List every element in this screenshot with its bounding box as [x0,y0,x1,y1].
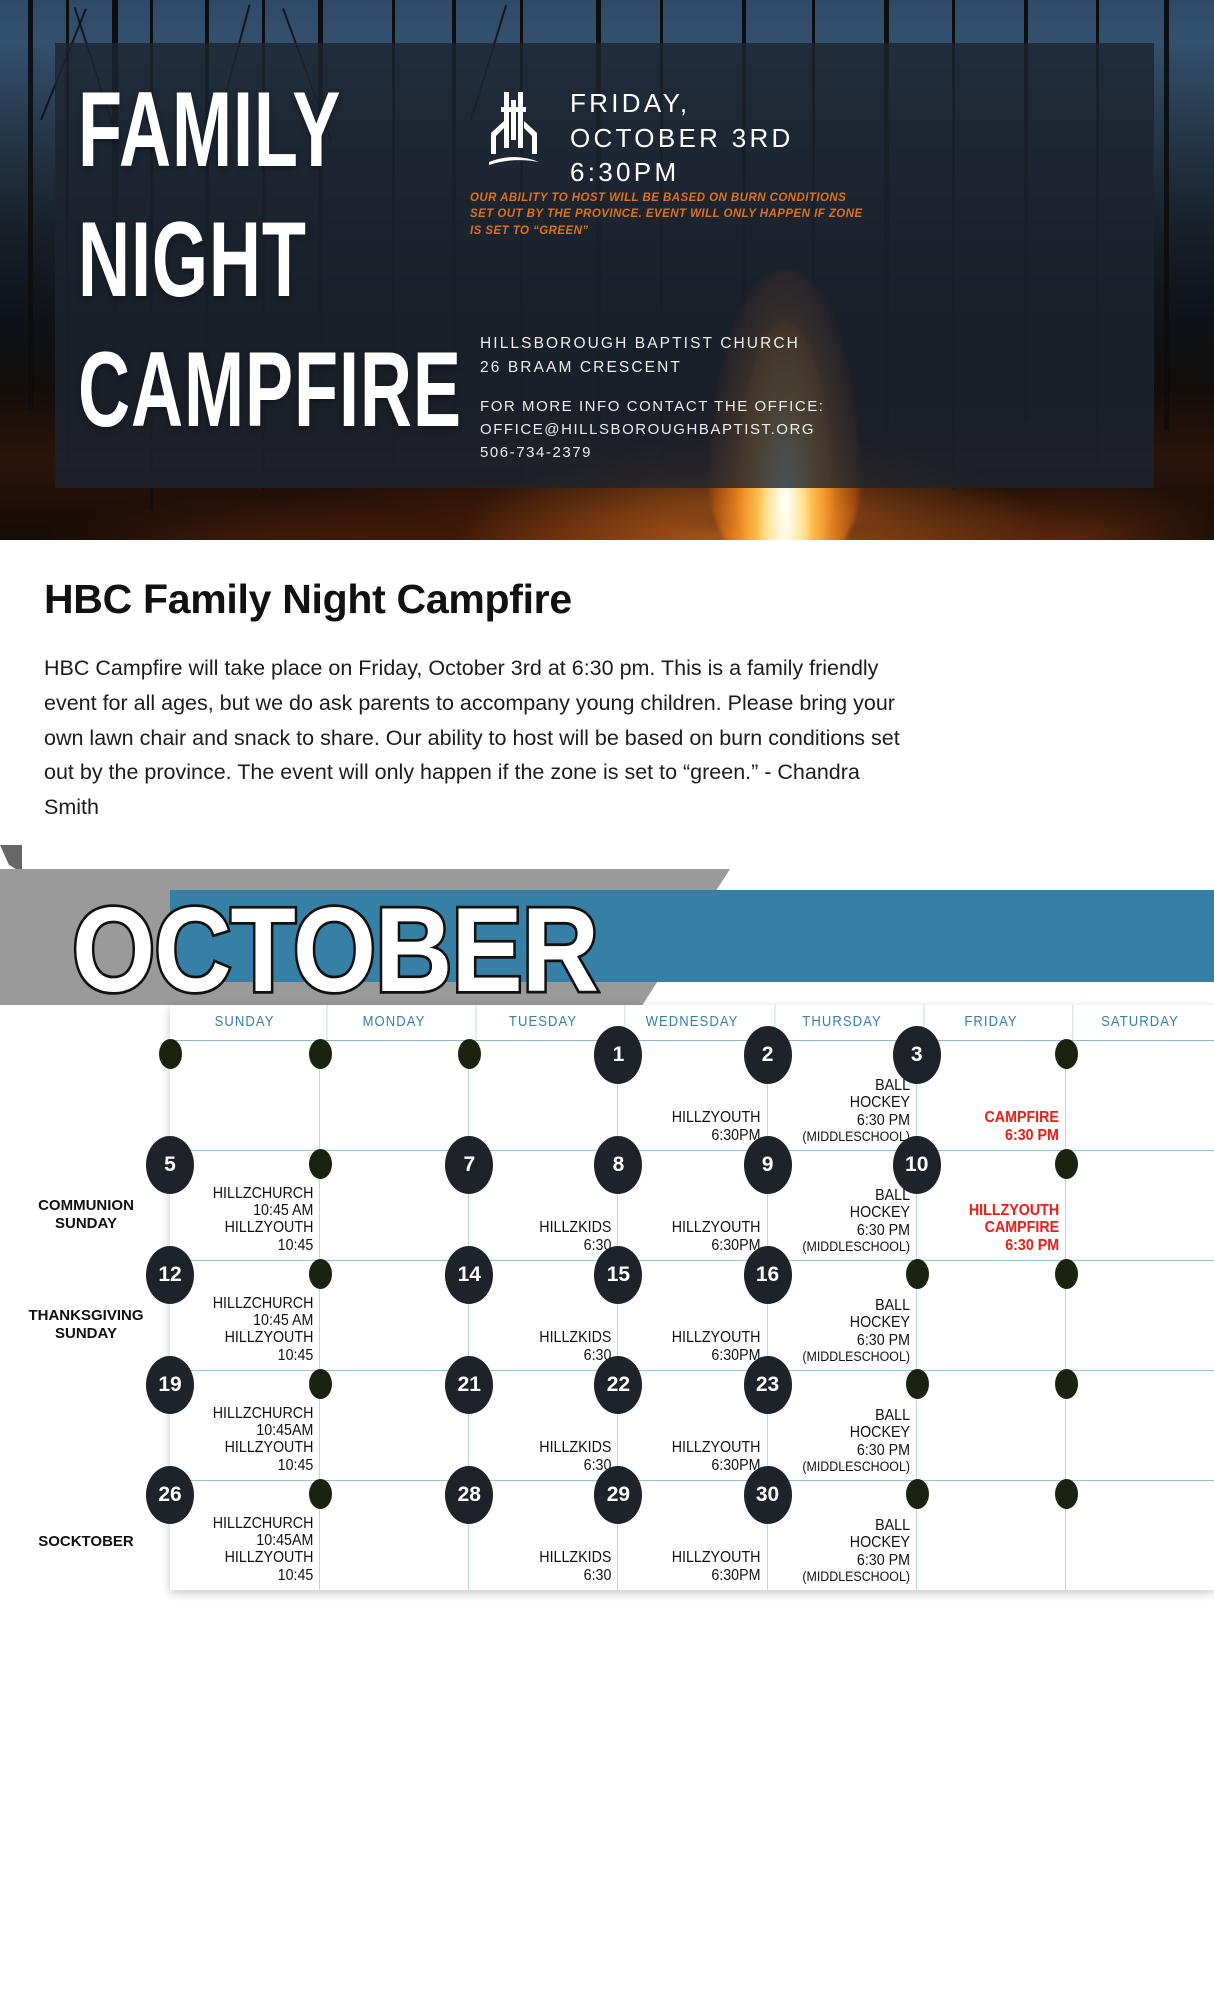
day-events: HILLZKIDS6:30 [539,1219,611,1254]
page-title: HBC Family Night Campfire [44,540,1170,623]
calendar-day-empty[interactable] [170,1041,319,1150]
side-note-line: SOCKTOBER [6,1533,166,1552]
day-number-badge: 22 [594,1356,642,1414]
calendar-day-26[interactable]: 26HILLZCHURCH10:45AMHILLZYOUTH10:45SOCKT… [170,1481,319,1590]
day-events: HILLZYOUTH6:30PM [672,1549,761,1584]
day-number-badge: 1 [594,1026,642,1084]
day-events: HILLZYOUTH6:30PM [672,1439,761,1474]
event-line: (MIDDLESCHOOL) [802,1569,910,1584]
day-number-badge: 19 [146,1356,194,1414]
contact-phone: 506-734-2379 [480,442,825,465]
week-side-note: SOCKTOBER [6,1533,166,1552]
day-dot-marker [309,1369,332,1399]
day-number-badge: 23 [744,1356,792,1414]
event-line: 10:45AM [213,1422,314,1439]
calendar-day-empty[interactable] [319,1041,468,1150]
event-line: 6:30 PM [802,1442,910,1459]
event-line: 6:30 PM [802,1222,910,1239]
event-line: HOCKEY [802,1204,910,1221]
contact-lead: FOR MORE INFO CONTACT THE OFFICE: [480,396,825,419]
day-number-badge: 12 [146,1246,194,1304]
day-number-badge: 26 [146,1466,194,1524]
day-events: HILLZYOUTHCAMPFIRE6:30 PM [969,1202,1059,1254]
day-dot-marker [1055,1479,1078,1509]
event-line: HILLZYOUTH [672,1329,761,1346]
event-line: 10:45 AM [213,1312,314,1329]
day-events: BALLHOCKEY6:30 PM(MIDDLESCHOOL) [802,1297,910,1364]
day-number-badge: 7 [445,1136,493,1194]
event-line: 10:45 [213,1347,314,1364]
calendar-day-empty[interactable] [916,1481,1065,1590]
church-cross-logo-icon [487,88,541,170]
calendar-week-row: 5HILLZCHURCH10:45 AMHILLZYOUTH10:45COMMU… [170,1151,1214,1261]
day-number-badge: 14 [445,1246,493,1304]
event-line: HILLZCHURCH [213,1405,314,1422]
calendar-day-empty[interactable] [1065,1371,1214,1480]
event-line: BALL [802,1077,910,1094]
event-date: OCTOBER 3RD [570,121,794,156]
contact-info: FOR MORE INFO CONTACT THE OFFICE: OFFICE… [480,396,825,464]
event-line: 6:30PM [672,1457,761,1474]
week-side-note: COMMUNIONSUNDAY [6,1197,166,1235]
day-events: HILLZCHURCH10:45 AMHILLZYOUTH10:45 [213,1185,314,1254]
event-line: 6:30 PM [802,1332,910,1349]
event-line: HILLZYOUTH [213,1549,314,1566]
calendar-weekday-header: SUNDAY MONDAY TUESDAY WEDNESDAY THURSDAY… [170,1005,1214,1041]
event-line: 6:30 [539,1567,611,1584]
headline-line-1: FAMILY [78,66,462,196]
event-line: 6:30PM [672,1127,761,1144]
month-calendar: MONTH OCTOBER SUNDAY MONDAY TUESDAY WEDN… [0,845,1214,2000]
calendar-day-empty[interactable] [1065,1041,1214,1150]
event-line: HILLZYOUTH [672,1549,761,1566]
event-line: HOCKEY [802,1534,910,1551]
event-line: BALL [802,1407,910,1424]
event-line: HILLZCHURCH [213,1295,314,1312]
day-events: HILLZCHURCH10:45AMHILLZYOUTH10:45 [213,1515,314,1584]
day-number-badge: 15 [594,1246,642,1304]
day-number-badge: 30 [744,1466,792,1524]
weekday-sunday: SUNDAY [177,1005,311,1040]
calendar-week-row: 26HILLZCHURCH10:45AMHILLZYOUTH10:45SOCKT… [170,1481,1214,1590]
event-line: HILLZYOUTH [672,1219,761,1236]
contact-email: OFFICE@HILLSBOROUGHBAPTIST.ORG [480,419,825,442]
event-line: HOCKEY [802,1314,910,1331]
day-number-badge: 21 [445,1356,493,1414]
day-events: HILLZYOUTH6:30PM [672,1109,761,1144]
day-events: HILLZKIDS6:30 [539,1329,611,1364]
day-dot-marker [309,1039,332,1069]
day-events: HILLZYOUTH6:30PM [672,1329,761,1364]
day-dot-marker [309,1479,332,1509]
event-line: 6:30 [539,1237,611,1254]
calendar-day-empty[interactable] [1065,1481,1214,1590]
calendar-grid: SUNDAY MONDAY TUESDAY WEDNESDAY THURSDAY… [170,1005,1214,1590]
day-number-badge: 10 [893,1136,941,1194]
event-line: CAMPFIRE [969,1219,1059,1236]
side-note-line: COMMUNION [6,1197,166,1216]
event-line: BALL [802,1297,910,1314]
event-line: 10:45AM [213,1532,314,1549]
calendar-day-empty[interactable] [916,1371,1065,1480]
calendar-day-empty[interactable] [1065,1261,1214,1370]
weekday-wednesday: WEDNESDAY [625,1005,759,1040]
event-time: 6:30PM [570,155,794,190]
calendar-month-title: OCTOBER [72,880,598,1019]
calendar-day-30[interactable]: 30BALLHOCKEY6:30 PM(MIDDLESCHOOL) [767,1481,916,1590]
venue-address: HILLSBOROUGH BAPTIST CHURCH 26 BRAAM CRE… [480,332,800,379]
event-line: 10:45 [213,1567,314,1584]
event-line: HILLZCHURCH [213,1185,314,1202]
day-dot-marker [1055,1149,1078,1179]
calendar-week-row: 12HILLZCHURCH10:45 AMHILLZYOUTH10:45THAN… [170,1261,1214,1371]
side-note-line: THANKSGIVING [6,1307,166,1326]
event-line: (MIDDLESCHOOL) [802,1129,910,1144]
day-dot-marker [1055,1369,1078,1399]
event-line: 6:30 PM [969,1237,1059,1254]
event-line: 6:30PM [672,1237,761,1254]
calendar-day-5[interactable]: 5HILLZCHURCH10:45 AMHILLZYOUTH10:45COMMU… [170,1151,319,1260]
event-poster-banner: FAMILY NIGHT CAMPFIRE FRIDAY, OCTOBER 3R… [0,0,1214,540]
day-events: BALLHOCKEY6:30 PM(MIDDLESCHOOL) [802,1187,910,1254]
article-section: HBC Family Night Campfire HBC Campfire w… [0,540,1214,825]
headline-line-3: CAMPFIRE [78,326,462,456]
day-events: HILLZCHURCH10:45AMHILLZYOUTH10:45 [213,1405,314,1474]
day-dot-marker [159,1039,182,1069]
calendar-day-12[interactable]: 12HILLZCHURCH10:45 AMHILLZYOUTH10:45THAN… [170,1261,319,1370]
day-dot-marker [1055,1259,1078,1289]
calendar-day-10[interactable]: 10HILLZYOUTHCAMPFIRE6:30 PM [916,1151,1065,1260]
event-line: HILLZKIDS [539,1329,611,1346]
event-line: HILLZKIDS [539,1219,611,1236]
event-line: HILLZYOUTH [672,1439,761,1456]
weekday-tuesday: TUESDAY [476,1005,610,1040]
event-line: HILLZKIDS [539,1439,611,1456]
day-events: CAMPFIRE6:30 PM [984,1109,1058,1144]
event-datetime: FRIDAY, OCTOBER 3RD 6:30PM [570,86,794,190]
event-line: HILLZYOUTH [213,1329,314,1346]
day-number-badge: 16 [744,1246,792,1304]
calendar-day-3[interactable]: 3CAMPFIRE6:30 PM [916,1041,1065,1150]
article-body: HBC Campfire will take place on Friday, … [44,623,906,825]
calendar-day-19[interactable]: 19HILLZCHURCH10:45AMHILLZYOUTH10:45 [170,1371,319,1480]
calendar-week-row: 19HILLZCHURCH10:45AMHILLZYOUTH10:4521HIL… [170,1371,1214,1481]
day-dot-marker [1055,1039,1078,1069]
day-number-badge: 28 [445,1466,493,1524]
day-events: BALLHOCKEY6:30 PM(MIDDLESCHOOL) [802,1517,910,1584]
weekday-monday: MONDAY [327,1005,461,1040]
event-line: (MIDDLESCHOOL) [802,1459,910,1474]
event-line: HILLZYOUTH [672,1109,761,1126]
day-events: BALLHOCKEY6:30 PM(MIDDLESCHOOL) [802,1407,910,1474]
day-dot-marker [906,1259,929,1289]
event-line: 10:45 [213,1457,314,1474]
day-number-badge: 8 [594,1136,642,1194]
day-number-badge: 29 [594,1466,642,1524]
venue-name: HILLSBOROUGH BAPTIST CHURCH [480,332,800,356]
event-line: 10:45 [213,1237,314,1254]
day-events: HILLZCHURCH10:45 AMHILLZYOUTH10:45 [213,1295,314,1364]
event-line: 6:30 PM [984,1127,1058,1144]
event-line: 6:30 PM [802,1112,910,1129]
event-line: HOCKEY [802,1094,910,1111]
event-line: HILLZYOUTH [213,1219,314,1236]
day-number-badge: 9 [744,1136,792,1194]
event-line: HILLZKIDS [539,1549,611,1566]
day-dot-marker [906,1369,929,1399]
event-line: 10:45 AM [213,1202,314,1219]
event-line: 6:30PM [672,1567,761,1584]
day-events: HILLZKIDS6:30 [539,1549,611,1584]
day-events: HILLZKIDS6:30 [539,1439,611,1474]
event-line: HILLZYOUTH [969,1202,1059,1219]
day-dot-marker [458,1039,481,1069]
day-dot-marker [309,1259,332,1289]
burn-conditions-note: OUR ABILITY TO HOST WILL BE BASED ON BUR… [470,190,870,239]
event-line: CAMPFIRE [984,1109,1058,1126]
day-dot-marker [309,1149,332,1179]
calendar-weeks: 1HILLZYOUTH6:30PM2BALLHOCKEY6:30 PM(MIDD… [170,1041,1214,1590]
event-line: (MIDDLESCHOOL) [802,1349,910,1364]
calendar-week-row: 1HILLZYOUTH6:30PM2BALLHOCKEY6:30 PM(MIDD… [170,1041,1214,1151]
calendar-day-16[interactable]: 16BALLHOCKEY6:30 PM(MIDDLESCHOOL) [767,1261,916,1370]
venue-street: 26 BRAAM CRESCENT [480,356,800,380]
week-side-note: THANKSGIVINGSUNDAY [6,1307,166,1345]
event-line: BALL [802,1187,910,1204]
side-note-line: SUNDAY [6,1215,166,1234]
event-line: HOCKEY [802,1424,910,1441]
calendar-day-23[interactable]: 23BALLHOCKEY6:30 PM(MIDDLESCHOOL) [767,1371,916,1480]
day-dot-marker [906,1479,929,1509]
day-events: HILLZYOUTH6:30PM [672,1219,761,1254]
calendar-day-empty[interactable] [916,1261,1065,1370]
calendar-corner-tab [0,845,22,873]
day-number-badge: 2 [744,1026,792,1084]
day-number-badge: 3 [893,1026,941,1084]
calendar-day-empty[interactable] [1065,1151,1214,1260]
weekday-saturday: SATURDAY [1072,1005,1206,1040]
event-line: HILLZCHURCH [213,1515,314,1532]
event-line: BALL [802,1517,910,1534]
poster-headline: FAMILY NIGHT CAMPFIRE [78,66,462,456]
event-line: 6:30 PM [802,1552,910,1569]
event-day: FRIDAY, [570,86,794,121]
weekday-friday: FRIDAY [923,1005,1057,1040]
weekday-thursday: THURSDAY [774,1005,908,1040]
headline-line-2: NIGHT [78,196,462,326]
side-note-line: SUNDAY [6,1325,166,1344]
event-line: 6:30 [539,1457,611,1474]
day-events: BALLHOCKEY6:30 PM(MIDDLESCHOOL) [802,1077,910,1144]
event-line: 6:30 [539,1347,611,1364]
event-line: (MIDDLESCHOOL) [802,1239,910,1254]
event-line: HILLZYOUTH [213,1439,314,1456]
event-line: 6:30PM [672,1347,761,1364]
day-number-badge: 5 [146,1136,194,1194]
